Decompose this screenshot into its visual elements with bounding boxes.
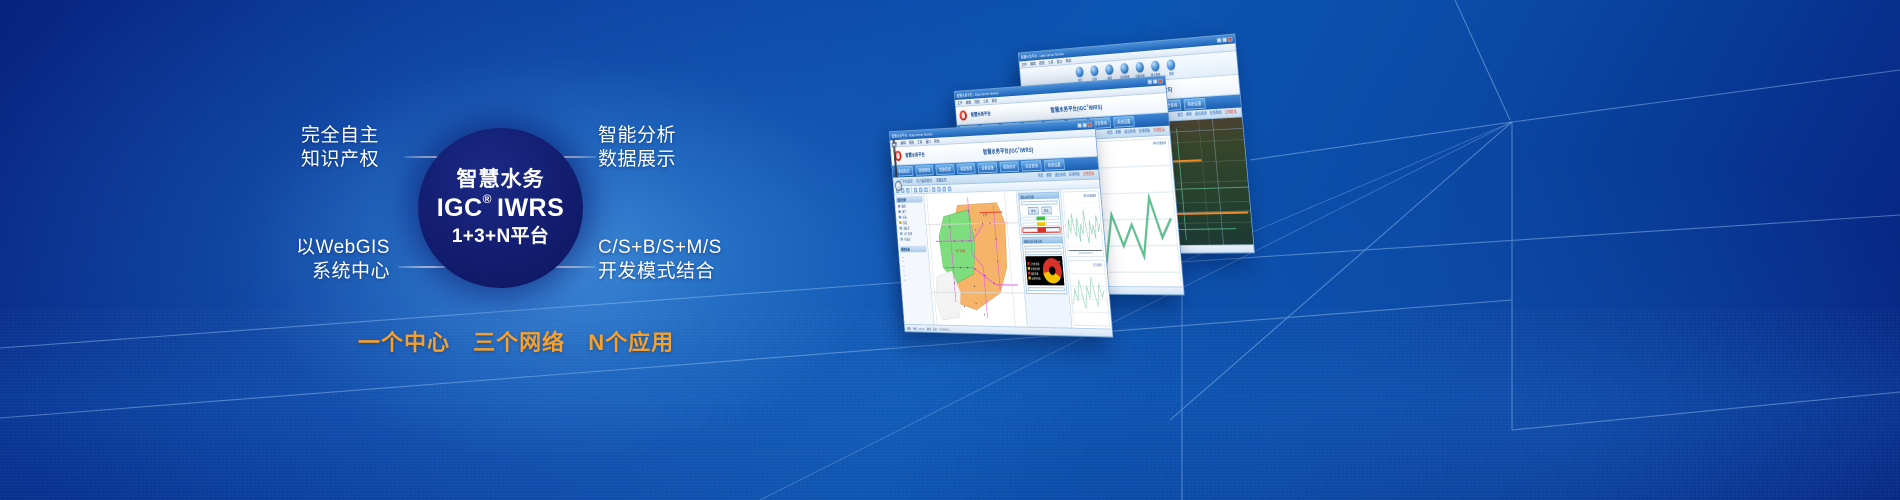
gis-map[interactable]: 一水厂供水区 主干管 — [924, 191, 1027, 327]
dialog-field[interactable] — [1028, 287, 1065, 291]
menu-item-help[interactable]: 帮助 — [1065, 58, 1071, 64]
chart-caption: 瞬时流量曲线 — [1083, 193, 1096, 197]
status-date: 2015-08-01 — [939, 327, 949, 331]
revenue-icon — [1120, 63, 1129, 74]
tagline-part-3: N个应用 — [588, 330, 674, 355]
dialog-body: 正常供水量 异常供水量 漏损水量 计划外用水 供水量 532.25 — [1023, 243, 1067, 292]
menu-item-view[interactable]: 视图 — [1039, 60, 1045, 66]
menu-item-edit[interactable]: 编辑 — [1030, 61, 1036, 67]
cell-level — [1023, 222, 1036, 226]
product-prefix: IGC — [437, 194, 483, 223]
cell-threshold — [1046, 222, 1060, 226]
toolbar-separator — [911, 187, 912, 193]
cell-level — [1022, 217, 1035, 221]
dialog-body: 查询 取消 — [1019, 198, 1061, 234]
nav-item-settings[interactable]: 系统设置 — [1113, 116, 1134, 128]
link-help[interactable]: 在线帮助 — [1210, 111, 1222, 117]
menu-item-view[interactable]: 视图 — [909, 140, 915, 146]
feature-label-bottom-right: C/S+B/S+M/S 开发模式结合 — [598, 236, 722, 285]
legend-item: 异常供水量 — [1028, 266, 1040, 270]
gis-map-canvas: 一水厂供水区 主干管 — [924, 191, 1027, 327]
pipeline-alarm — [980, 212, 1002, 213]
layer-item[interactable]: 阀门 — [897, 209, 924, 214]
pressure-line-chart: 压力趋势 — [1068, 260, 1110, 327]
link-help[interactable]: 在线帮助 — [1069, 172, 1081, 177]
network-icon — [1105, 64, 1114, 75]
company-logo-icon — [959, 109, 968, 121]
threshold-row — [1022, 216, 1059, 221]
link-logout[interactable]: 注销登录 — [1153, 128, 1165, 134]
nav-item-network[interactable]: 管网管理 — [915, 165, 934, 176]
attribute-row: — — [901, 260, 928, 264]
layer-item[interactable]: 水厂区域 — [899, 231, 926, 236]
screenshot-stack: 智慧水务平台 - Data Server Service 文件 编辑 视图 工具… — [780, 0, 1900, 500]
link-refresh[interactable]: 刷新 — [1186, 112, 1192, 117]
chart-caption: 瞬时流量曲线 — [1153, 141, 1166, 146]
feature-line-2: 数据展示 — [598, 148, 676, 172]
tagline-part-2: 三个网络 — [473, 330, 565, 355]
toolbar-icon-settings[interactable]: 设置 — [1166, 59, 1176, 76]
nav-item-query[interactable]: 综合查询 — [1021, 160, 1041, 171]
query-button[interactable]: 查询 — [1028, 207, 1039, 215]
nav-item-maintenance[interactable]: 设备运维 — [978, 162, 998, 173]
zoom-slider[interactable] — [894, 188, 900, 192]
link-help[interactable]: 在线帮助 — [1138, 129, 1150, 135]
close-icon — [1228, 37, 1233, 42]
supply-donut-chart: 正常供水量 异常供水量 漏损水量 计划外用水 供水量 532.25 — [1025, 256, 1064, 285]
flow-line-chart: 瞬时流量曲线 2015-08-01 00:00 — [1062, 190, 1104, 257]
cell-threshold — [1045, 216, 1059, 220]
menu-item-tools[interactable]: 工具 — [1048, 59, 1054, 65]
attribute-row: — — [901, 264, 928, 268]
window-buttons[interactable] — [1147, 78, 1163, 84]
chart-caption: 压力趋势 — [1093, 263, 1102, 267]
link-logout[interactable]: 注销登录 — [1083, 172, 1095, 177]
feature-label-top-left: 完全自主 知识产权 — [301, 124, 379, 173]
dialog-field[interactable] — [1021, 200, 1058, 205]
link-home[interactable]: 首页 — [1107, 131, 1113, 136]
link-home[interactable]: 首页 — [1038, 174, 1044, 179]
feature-line-2: 系统中心 — [296, 260, 390, 284]
swatch-red — [1037, 228, 1046, 232]
layer-panel-header: 图层控制 — [896, 196, 923, 203]
window-buttons[interactable] — [1077, 122, 1092, 128]
reports-icon — [1150, 60, 1159, 71]
feature-line-1: 完全自主 — [301, 124, 379, 148]
monitor-icon — [1090, 65, 1099, 76]
toolbar-separator — [929, 186, 930, 192]
attribute-rows: — — — — — — — [900, 255, 929, 282]
menu-item-help[interactable]: 帮助 — [991, 98, 997, 104]
link-refresh[interactable]: 刷新 — [1116, 130, 1122, 135]
swatch-green — [1036, 216, 1045, 220]
center-platform-text: 1+3+N平台 — [452, 226, 549, 248]
subnav-links[interactable]: 首页 刷新 退出系统 在线帮助 注销登录 — [1038, 172, 1094, 179]
menu-item-view[interactable]: 视图 — [974, 99, 980, 105]
measure-icon[interactable] — [919, 187, 923, 192]
feature-line-1: 以WebGIS — [296, 236, 390, 260]
menu-item-file[interactable]: 文件 — [957, 100, 963, 106]
layer-item[interactable]: 水表 — [897, 214, 924, 219]
cancel-button[interactable]: 取消 — [1041, 206, 1052, 214]
legend-item: 漏损水量 — [1028, 271, 1040, 275]
layer-item[interactable]: 行政区 — [899, 236, 926, 241]
link-refresh[interactable]: 刷新 — [1046, 173, 1052, 178]
window-body: 图层控制 管网 阀门 水表 泵站 测压点 水厂区域 行政区 属性信息 — — —… — [894, 188, 1111, 328]
tagline: 一个中心 三个网络 N个应用 — [358, 325, 674, 357]
attribute-row: — — [902, 278, 929, 282]
attribute-panel-header: 属性信息 — [900, 246, 927, 253]
feature-line-1: 智能分析 — [598, 124, 676, 148]
product-suffix: IWRS — [497, 194, 564, 223]
search-icon[interactable] — [942, 186, 946, 191]
link-home[interactable]: 首页 — [1177, 113, 1183, 118]
map-road-label: 主干管 — [983, 212, 988, 216]
status-service: 服务：正常 — [927, 327, 937, 331]
export-icon[interactable] — [937, 186, 941, 191]
gear-icon — [1166, 59, 1175, 70]
flow-chart-canvas — [1063, 191, 1103, 256]
menu-item-tools[interactable]: 工具 — [917, 139, 923, 145]
nav-item-revenue[interactable]: 营收管理 — [935, 164, 954, 175]
cell-threshold — [1046, 228, 1060, 232]
feature-line-2: 知识产权 — [301, 148, 379, 172]
swatch-yellow — [1036, 222, 1045, 226]
legend-item: 计划外用水 — [1028, 276, 1040, 280]
legend-item: 正常供水量 — [1027, 262, 1039, 266]
subnav-links[interactable]: 首页 刷新 退出系统 在线帮助 注销登录 — [1177, 110, 1237, 118]
status-ready: 就绪 — [907, 326, 911, 330]
brand-text: 智慧水务平台 — [971, 110, 991, 118]
link-exit[interactable]: 退出系统 — [1124, 129, 1136, 134]
dialog-field[interactable] — [1025, 251, 1062, 255]
app-title: 智慧水务平台(IGC®IWRS) — [1050, 102, 1102, 114]
concept-diagram: 完全自主 知识产权 以WebGIS 系统中心 智能分析 数据展示 C/S+B/S… — [0, 0, 820, 500]
layers-icon[interactable] — [948, 186, 952, 191]
dialog-field[interactable] — [1025, 245, 1062, 249]
subnav-item-pressure[interactable]: 压力监测监控 — [916, 177, 932, 183]
subnav-links[interactable]: 首页 刷新 退出系统 在线帮助 注销登录 — [1107, 128, 1165, 136]
brand-text: 智慧水务平台 — [905, 151, 925, 158]
center-badge: 智慧水务 IGC ® IWRS 1+3+N平台 — [418, 128, 583, 288]
app-title: 智慧水务平台(IGC®IWRS) — [983, 145, 1034, 156]
menu-item-edit[interactable]: 编辑 — [900, 140, 906, 146]
close-icon — [1088, 122, 1093, 127]
nav-item-dispatch[interactable]: 调度管理 — [956, 163, 975, 174]
layer-item[interactable]: 管网 — [896, 203, 923, 208]
attribute-row: — — [902, 269, 929, 273]
layer-item[interactable]: 测压点 — [898, 225, 925, 230]
nav-item-settings[interactable]: 系统设置 — [1044, 159, 1065, 171]
balance-analysis-dialog[interactable]: 管网分区平衡分析 正常供水量 异常供水量 漏损水量 计划外用水 — [1022, 237, 1068, 294]
menu-item-window[interactable]: 窗口 — [925, 139, 931, 145]
feature-line-2: 开发模式结合 — [598, 260, 722, 284]
cell-level — [1023, 228, 1036, 232]
chart-xlabel: 2015-08-01 00:00 — [1068, 252, 1103, 255]
tagline-part-1: 一个中心 — [358, 330, 450, 355]
center-cjk-title: 智慧水务 — [457, 168, 545, 191]
link-exit[interactable]: 退出系统 — [1195, 111, 1207, 117]
select-icon[interactable] — [914, 187, 918, 192]
menu-item-edit[interactable]: 编辑 — [966, 99, 972, 105]
feature-label-top-right: 智能分析 数据展示 — [598, 124, 676, 173]
feature-label-bottom-left: 以WebGIS 系统中心 — [296, 236, 390, 285]
attribute-row: — — [900, 255, 927, 259]
app-window-front[interactable]: 智慧水务平台 - Data Server Service 文件 编辑 视图 工具… — [889, 119, 1114, 338]
link-logout[interactable]: 注销登录 — [1225, 110, 1237, 116]
zoom-out-icon[interactable] — [906, 188, 910, 193]
nav-item-reports[interactable]: 报表统计 — [999, 161, 1019, 172]
maintenance-icon — [1135, 62, 1144, 73]
map-zone-label: 一水厂供水区 — [954, 248, 965, 253]
home-icon — [1075, 66, 1084, 77]
menu-item-tools[interactable]: 工具 — [983, 98, 989, 104]
menu-item-help[interactable]: 帮助 — [934, 138, 940, 144]
threshold-row-alert — [1023, 228, 1060, 232]
menu-item-file[interactable]: 文件 — [1021, 61, 1027, 67]
layer-item[interactable]: 泵站 — [898, 220, 925, 225]
print-icon[interactable] — [932, 187, 936, 192]
window-buttons[interactable] — [1217, 37, 1233, 43]
status-user: 用户：admin — [913, 326, 924, 330]
feature-line-1: C/S+B/S+M/S — [598, 236, 722, 260]
threshold-row — [1023, 222, 1060, 227]
nav-item-settings[interactable]: 系统设置 — [1183, 98, 1205, 110]
identify-icon[interactable] — [924, 187, 928, 192]
attribute-row: — — [902, 273, 929, 277]
link-exit[interactable]: 退出系统 — [1055, 173, 1066, 178]
donut-legend: 正常供水量 异常供水量 漏损水量 计划外用水 — [1027, 262, 1041, 280]
dialog-buttons[interactable]: 查询 取消 — [1021, 206, 1058, 215]
subnav-item-flow[interactable]: 流量监控 — [936, 177, 947, 183]
leak-analysis-dialog[interactable]: 漏水分析设置 查询 取消 — [1018, 192, 1062, 236]
menu-item-window[interactable]: 窗口 — [1057, 58, 1063, 64]
close-icon — [1158, 78, 1163, 83]
pressure-chart-canvas — [1069, 261, 1109, 326]
registered-mark-icon: ® — [483, 193, 492, 207]
center-product-name: IGC ® IWRS — [437, 194, 565, 223]
hero-banner: 完全自主 知识产权 以WebGIS 系统中心 智能分析 数据展示 C/S+B/S… — [0, 0, 1900, 500]
